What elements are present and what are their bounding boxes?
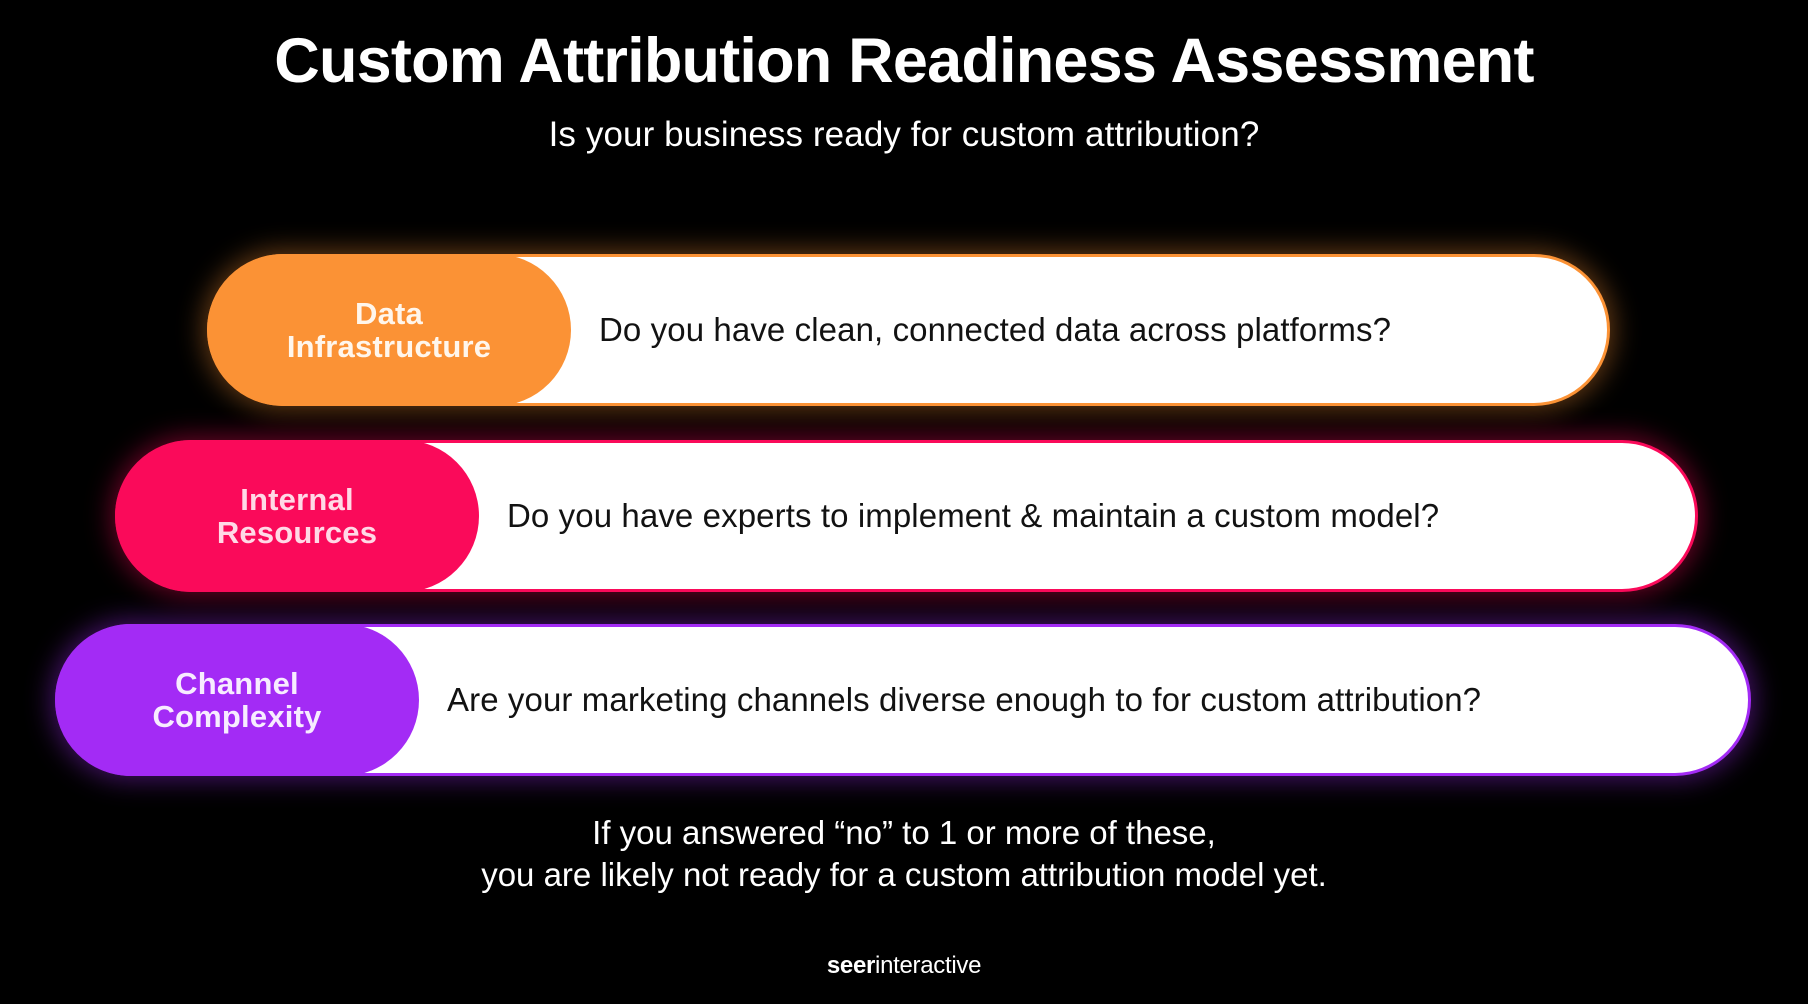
category-pill-internal-resources: Internal Resources xyxy=(115,440,479,592)
assessment-rows: Data Infrastructure Do you have clean, c… xyxy=(0,250,1808,790)
conclusion-note-line-1: If you answered “no” to 1 or more of the… xyxy=(0,812,1808,854)
category-pill-data-infrastructure: Data Infrastructure xyxy=(207,254,571,406)
assessment-row-data-infrastructure: Data Infrastructure Do you have clean, c… xyxy=(207,254,1610,406)
question-text: Do you have clean, connected data across… xyxy=(599,254,1570,406)
assessment-row-channel-complexity: Channel Complexity Are your marketing ch… xyxy=(55,624,1751,776)
conclusion-note: If you answered “no” to 1 or more of the… xyxy=(0,812,1808,896)
category-label: Data Infrastructure xyxy=(287,297,491,363)
question-text: Do you have experts to implement & maint… xyxy=(507,440,1658,592)
brand-logo: seerinteractive xyxy=(0,952,1808,980)
question-text: Are your marketing channels diverse enou… xyxy=(447,624,1711,776)
page-subtitle: Is your business ready for custom attrib… xyxy=(0,116,1808,155)
category-label: Channel Complexity xyxy=(152,667,321,733)
category-label: Internal Resources xyxy=(217,483,377,549)
conclusion-note-line-2: you are likely not ready for a custom at… xyxy=(0,854,1808,896)
brand-logo-secondary: interactive xyxy=(875,952,981,979)
assessment-row-internal-resources: Internal Resources Do you have experts t… xyxy=(115,440,1698,592)
brand-logo-primary: seer xyxy=(827,952,875,979)
category-pill-channel-complexity: Channel Complexity xyxy=(55,624,419,776)
page-title: Custom Attribution Readiness Assessment xyxy=(0,28,1808,94)
infographic-canvas: Custom Attribution Readiness Assessment … xyxy=(0,0,1808,1004)
header: Custom Attribution Readiness Assessment … xyxy=(0,28,1808,155)
